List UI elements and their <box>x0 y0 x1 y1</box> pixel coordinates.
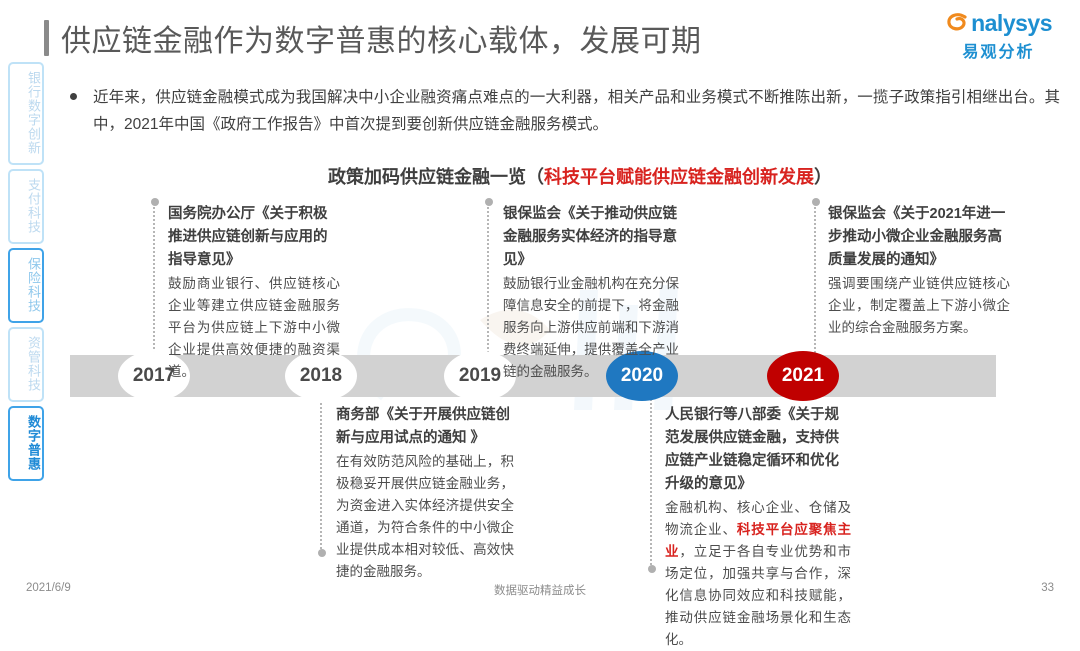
section-title: 政策加码供应链金融一览（科技平台赋能供应链金融创新发展） <box>328 163 832 189</box>
bullet-dot-icon <box>70 93 77 100</box>
timeline-card-2017: 国务院办公厅《关于积极推进供应链创新与应用的指导意见》 鼓励商业银行、供应链核心… <box>168 203 340 383</box>
section-title-tail: ） <box>814 167 832 187</box>
card-body: 鼓励商业银行、供应链核心企业等建立供应链金融服务平台为供应链上下游中小微企业提供… <box>168 273 340 383</box>
card-body: 强调要围绕产业链供应链核心企业，制定覆盖上下游小微企业的综合金融服务方案。 <box>828 273 1010 339</box>
page-header: 供应链金融作为数字普惠的核心载体，发展可期 <box>44 16 702 60</box>
connector-2021 <box>814 202 818 357</box>
sidebar-item-asset-management-tech[interactable]: 资管科技 <box>8 327 44 402</box>
card-heading: 人民银行等八部委《关于规范发展供应链金融，支持供应链产业链稳定循环和优化升级的意… <box>665 404 851 496</box>
sidebar-item-insurance-tech[interactable]: 保险科技 <box>8 248 44 323</box>
sidebar-item-label: 银行数字创新 <box>26 71 41 155</box>
brand-logo: nalysys 易观分析 <box>945 10 1052 62</box>
page-title: 供应链金融作为数字普惠的核心载体，发展可期 <box>61 16 702 60</box>
card-heading: 商务部《关于开展供应链创新与应用试点的通知 》 <box>336 404 514 450</box>
timeline-node-2021[interactable]: 2021 <box>767 351 839 401</box>
timeline-card-2019: 银保监会《关于推动供应链金融服务实体经济的指导意见》 鼓励银行业金融机构在充分保… <box>503 203 679 383</box>
intro-bullet: 近年来，供应链金融模式成为我国解决中小企业融资痛点难点的一大利器，相关产品和业务… <box>70 84 1060 138</box>
sidebar-item-label: 保险科技 <box>26 257 41 313</box>
footer-slogan: 数据驱动精益成长 <box>0 582 1080 598</box>
analysys-mark-icon <box>945 10 971 36</box>
timeline-node-label: 2019 <box>459 365 501 387</box>
timeline-card-2020: 人民银行等八部委《关于规范发展供应链金融，支持供应链产业链稳定循环和优化升级的意… <box>665 404 851 651</box>
connector-2017 <box>153 202 157 357</box>
timeline-card-2018: 商务部《关于开展供应链创新与应用试点的通知 》 在有效防范风险的基础上，积极稳妥… <box>336 404 514 583</box>
footer: 2021/6/9 数据驱动精益成长 33 <box>0 582 1080 598</box>
section-title-highlight: 科技平台赋能供应链金融创新发展 <box>544 167 814 187</box>
sidebar-item-payment-tech[interactable]: 支付科技 <box>8 169 44 244</box>
card-heading: 银保监会《关于2021年进一步推动小微企业金融服务高质量发展的通知》 <box>828 203 1010 272</box>
logo-wordmark: nalysys <box>971 12 1052 35</box>
connector-2020 <box>650 395 654 569</box>
card-body: 鼓励银行业金融机构在充分保障信息安全的前提下，将金融服务向上游供应前端和下游消费… <box>503 273 679 383</box>
section-title-main: 政策加码供应链金融一览（ <box>328 167 544 187</box>
card-body: 金融机构、核心企业、仓储及物流企业、科技平台应聚焦主业，立足于各自专业优势和市场… <box>665 497 851 651</box>
sidebar-item-bank-digital-innovation[interactable]: 银行数字创新 <box>8 62 44 165</box>
footer-page-number: 33 <box>1041 582 1054 594</box>
card-heading: 国务院办公厅《关于积极推进供应链创新与应用的指导意见》 <box>168 203 340 272</box>
connector-2018 <box>320 395 324 553</box>
intro-bullet-text: 近年来，供应链金融模式成为我国解决中小企业融资痛点难点的一大利器，相关产品和业务… <box>93 84 1060 138</box>
title-accent-bar <box>44 20 49 56</box>
sidebar: 银行数字创新 支付科技 保险科技 资管科技 数字普惠 <box>8 62 44 481</box>
connector-2019 <box>487 202 491 357</box>
logo-chinese-name: 易观分析 <box>945 38 1052 62</box>
card-body: 在有效防范风险的基础上，积极稳妥开展供应链金融业务，为资金进入实体经济提供安全通… <box>336 451 514 583</box>
timeline-node-label: 2021 <box>782 365 824 387</box>
sidebar-item-label: 资管科技 <box>26 336 41 392</box>
timeline-card-2021: 银保监会《关于2021年进一步推动小微企业金融服务高质量发展的通知》 强调要围绕… <box>828 203 1010 339</box>
sidebar-item-digital-inclusive-finance[interactable]: 数字普惠 <box>8 406 44 481</box>
card-heading: 银保监会《关于推动供应链金融服务实体经济的指导意见》 <box>503 203 679 272</box>
sidebar-item-label: 支付科技 <box>26 178 41 234</box>
sidebar-item-label: 数字普惠 <box>26 415 41 471</box>
